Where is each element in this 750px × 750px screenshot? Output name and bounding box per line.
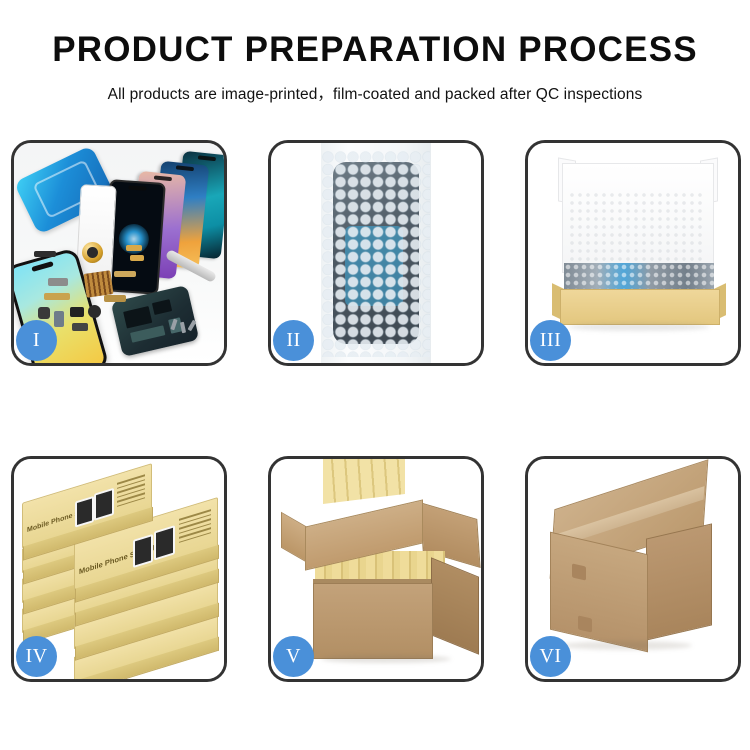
process-step-panel-4: Mobile Phone Spare Parts Mobile Phone Sp… <box>11 456 227 682</box>
spare-part-icon <box>114 271 136 277</box>
chip-array-part-icon <box>83 270 113 298</box>
drop-shadow <box>321 655 451 663</box>
carton-handle-icon <box>578 615 592 632</box>
spare-part-icon <box>72 323 88 331</box>
spare-part-icon <box>44 293 70 300</box>
step-badge-1: I <box>16 320 57 361</box>
speaker-coil-part-icon <box>82 242 103 263</box>
spare-part-icon <box>130 255 144 261</box>
phone-screens-fan <box>100 151 224 271</box>
packed-kraft-boxes-icon <box>323 459 405 504</box>
spare-part-icon <box>88 305 101 318</box>
step-badge-5: V <box>273 636 314 677</box>
box-screen-image-icon <box>75 496 94 528</box>
spare-part-icon <box>54 311 64 327</box>
drop-shadow <box>562 641 692 650</box>
step-badge-3: III <box>530 320 571 361</box>
spare-part-icon <box>104 295 126 302</box>
carton-front-panel-icon <box>313 583 433 659</box>
process-steps-grid: I II III <box>11 140 739 682</box>
process-step-panel-6: VI <box>525 456 741 682</box>
process-step-panel-3: III <box>525 140 741 366</box>
spare-part-icon <box>34 251 56 257</box>
box-spec-lines <box>117 474 145 510</box>
page-title: PRODUCT PREPARATION PROCESS <box>0 32 750 67</box>
box-screen-image-icon <box>154 525 175 560</box>
page-subtitle: All products are image-printed，film-coat… <box>0 82 750 104</box>
carton-handle-icon <box>572 563 586 580</box>
page-header: PRODUCT PREPARATION PROCESS All products… <box>0 0 750 104</box>
screws-icon <box>172 319 198 337</box>
spare-part-icon <box>126 245 142 251</box>
bubble-wrap-texture-icon <box>322 151 430 357</box>
step-badge-6: VI <box>530 636 571 677</box>
mailer-front-panel-icon <box>560 289 720 325</box>
step-badge-2: II <box>273 320 314 361</box>
process-step-panel-1: I <box>11 140 227 366</box>
spare-part-icon <box>38 307 50 319</box>
carton-side-panel-icon <box>431 557 479 654</box>
process-step-panel-2: II <box>268 140 484 366</box>
box-screen-image-icon <box>94 488 114 521</box>
box-screen-image-icon <box>133 534 153 568</box>
step-badge-4: IV <box>16 636 57 677</box>
spare-part-icon <box>70 307 84 317</box>
process-step-panel-5: V <box>268 456 484 682</box>
carton-side-panel-icon <box>646 523 712 640</box>
box-spec-lines <box>179 509 211 546</box>
foam-liner-icon <box>568 191 706 269</box>
packed-wrapped-items-icon <box>564 263 714 291</box>
spare-part-icon <box>48 278 68 286</box>
drop-shadow <box>568 323 710 331</box>
